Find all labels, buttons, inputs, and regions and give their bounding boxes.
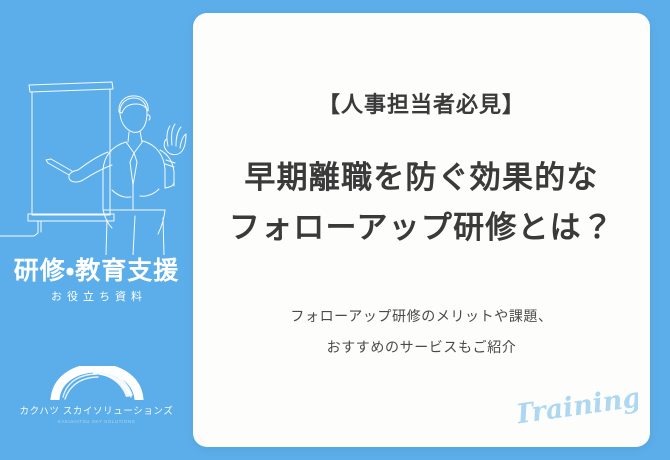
presenter-with-flipchart-illustration — [0, 70, 193, 255]
subtitle-line-2: おすすめのサービスもご紹介 — [193, 332, 650, 363]
title-line-1: 早期離職を防ぐ効果的な — [193, 153, 650, 203]
left-panel: 研修・教育支援 お役立ち資料 カクハツ スカイソリューションズ KAKUHATS… — [0, 0, 193, 460]
kicker-text: 【人事担当者必見】 — [193, 87, 650, 119]
arc-swoosh-logo-icon — [47, 366, 147, 400]
content-card: 【人事担当者必見】 早期離職を防ぐ効果的な フォローアップ研修とは？ フォローア… — [193, 13, 650, 447]
training-script-accent: Training — [518, 377, 638, 431]
page-title: 早期離職を防ぐ効果的な フォローアップ研修とは？ — [193, 153, 650, 253]
page-subtitle: フォローアップ研修のメリットや課題、 おすすめのサービスもご紹介 — [193, 301, 650, 363]
title-line-2: フォローアップ研修とは？ — [193, 203, 650, 253]
brand-name: カクハツ スカイソリューションズ — [0, 403, 193, 417]
brand-block: カクハツ スカイソリューションズ KAKUHATSU SKY SOLUTIONS — [0, 366, 193, 424]
panel-heading: 研修・教育支援 — [0, 258, 193, 286]
brand-tagline: KAKUHATSU SKY SOLUTIONS — [0, 419, 193, 424]
training-script-text: Training — [518, 382, 638, 431]
panel-subheading: お役立ち資料 — [0, 291, 193, 304]
subtitle-line-1: フォローアップ研修のメリットや課題、 — [193, 301, 650, 332]
cover-slide: 研修・教育支援 お役立ち資料 カクハツ スカイソリューションズ KAKUHATS… — [0, 0, 670, 460]
